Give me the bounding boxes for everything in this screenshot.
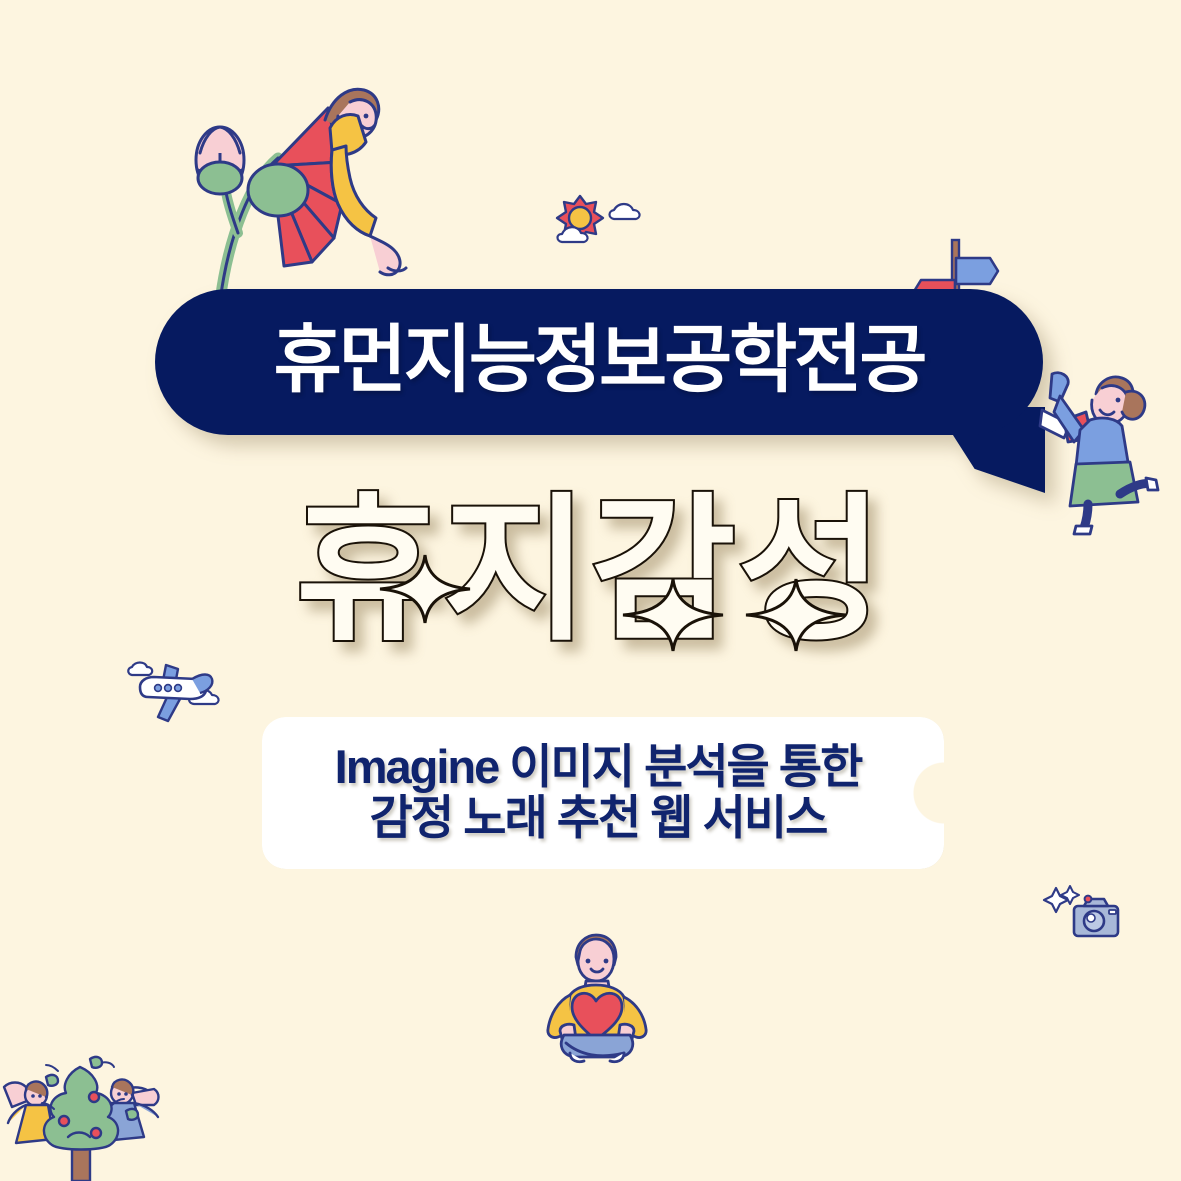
poster-canvas: 휴먼지능정보공학전공 휴지감성 Imagine 이미지 분석을 통한 감정 노래… <box>0 0 1181 1181</box>
subtitle-line-1: Imagine 이미지 분석을 통한 <box>335 742 862 791</box>
subtitle-banner: Imagine 이미지 분석을 통한 감정 노래 추천 웹 서비스 <box>262 717 944 869</box>
department-name-label: 휴먼지능정보공학전공 <box>155 289 1043 435</box>
subtitle-line-2: 감정 노래 추천 웹 서비스 <box>370 793 827 842</box>
department-badge: 휴먼지능정보공학전공 <box>155 289 1043 435</box>
subtitle-text: Imagine 이미지 분석을 통한 감정 노래 추천 웹 서비스 <box>262 717 944 869</box>
heart-person-icon <box>536 935 654 1065</box>
page-title: 휴지감성 <box>0 492 1181 650</box>
airplane-icon <box>124 655 228 727</box>
tree-kids-icon <box>2 1053 162 1181</box>
sun-clouds-icon <box>548 190 658 252</box>
camera-icon <box>1040 886 1120 944</box>
